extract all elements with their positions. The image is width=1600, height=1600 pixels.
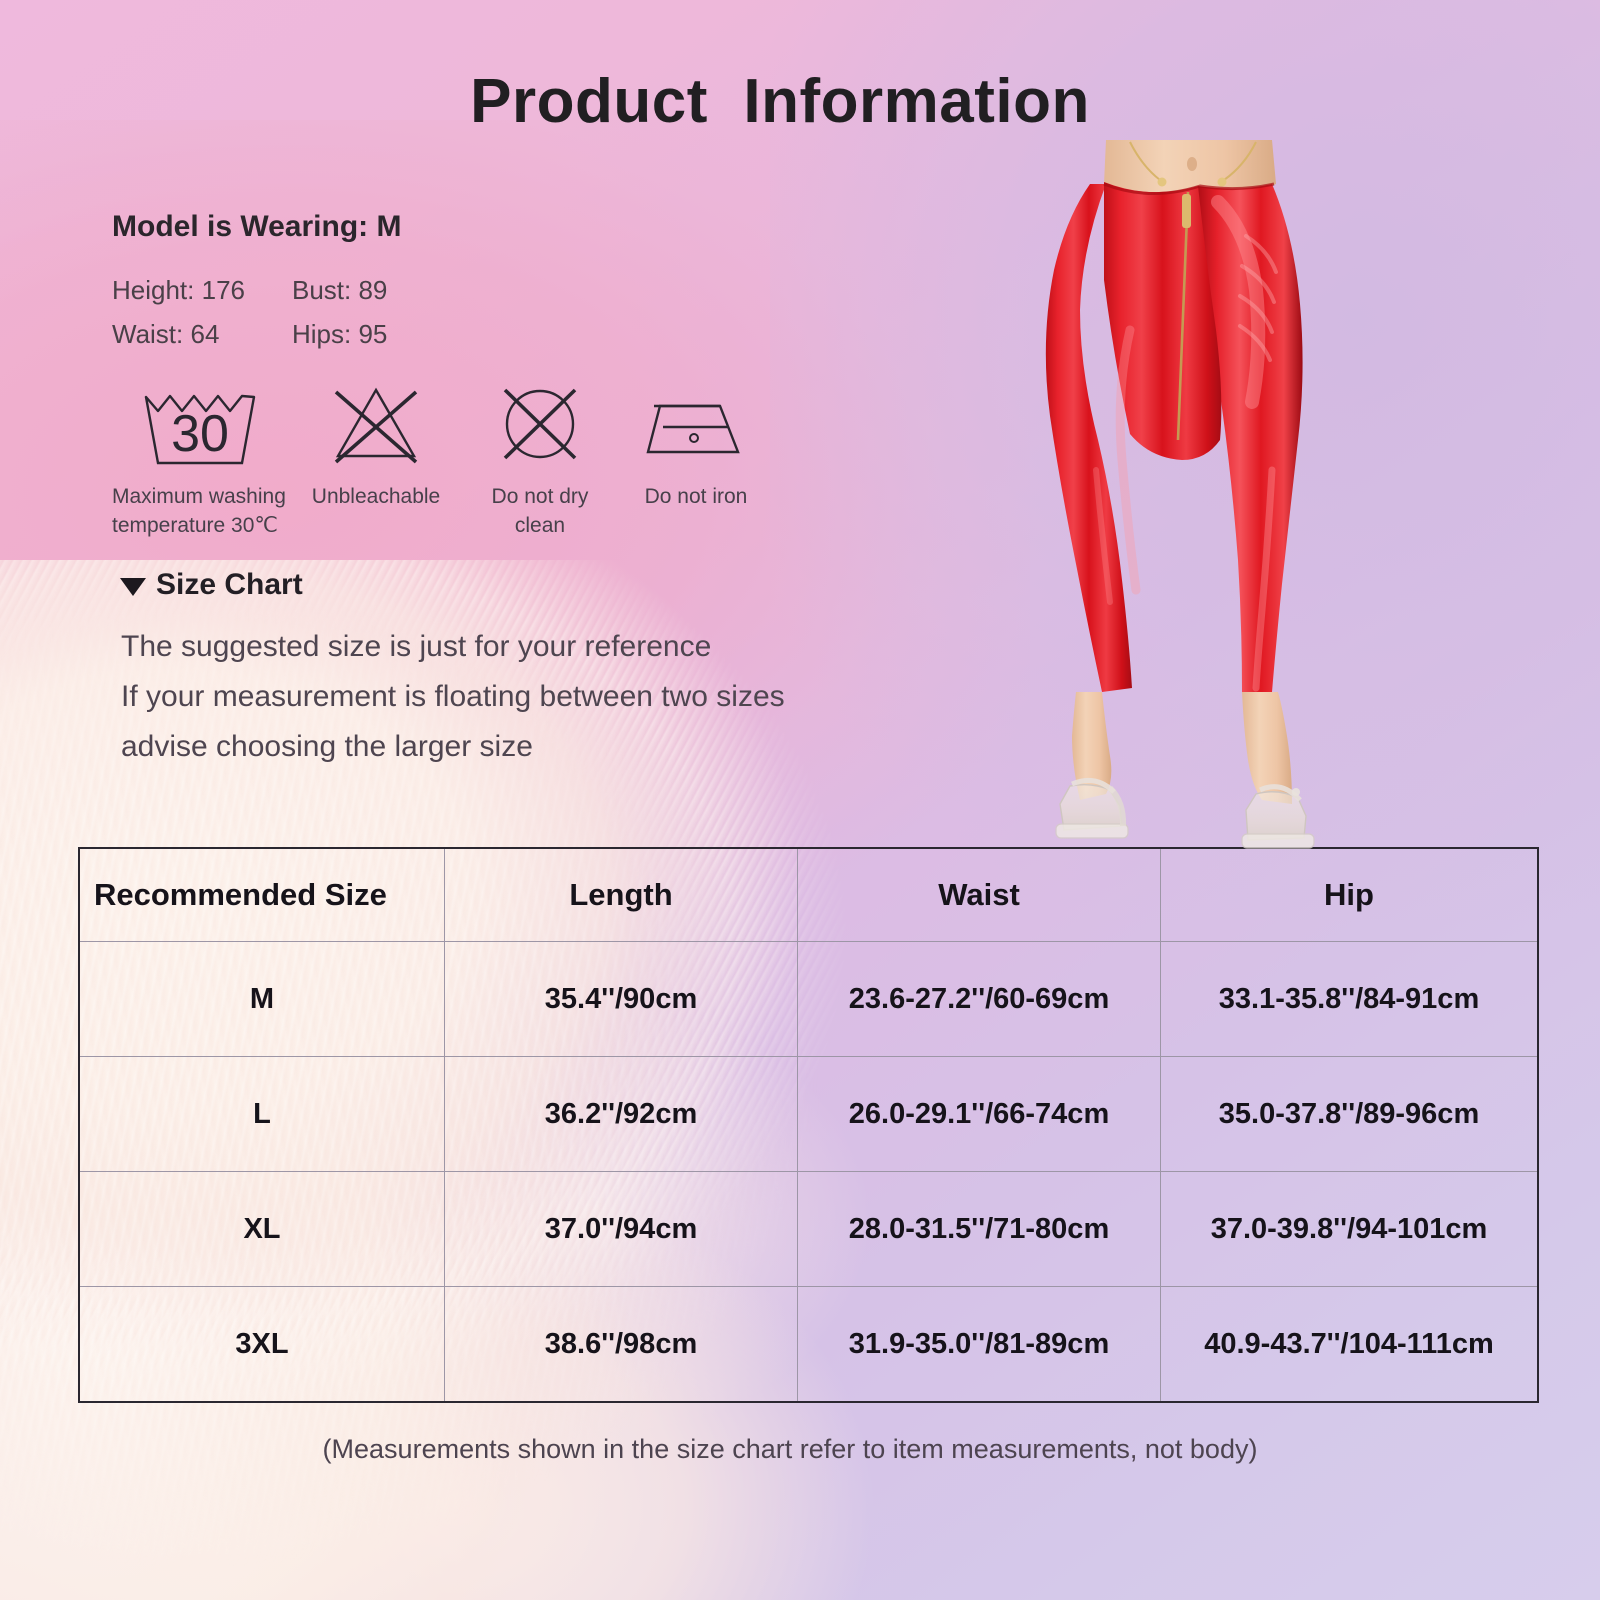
table-row: 3XL 38.6''/98cm 31.9-35.0''/81-89cm 40.9…: [79, 1287, 1538, 1403]
care-item-washing: 30 Maximum washing temperature 30℃: [112, 378, 288, 540]
size-chart-note: advise choosing the larger size: [121, 722, 785, 772]
size-chart-note: If your measurement is floating between …: [121, 672, 785, 722]
left-clear-heel: [1056, 780, 1128, 838]
page-title: Product Information: [0, 66, 1560, 137]
size-chart-heading-label: Size Chart: [156, 568, 303, 602]
cell-waist: 28.0-31.5''/71-80cm: [798, 1172, 1161, 1287]
no-bleach-icon: [324, 378, 428, 470]
cell-size: XL: [79, 1172, 445, 1287]
care-item-iron: Do not iron: [620, 378, 772, 511]
table-header-row: Recommended Size Length Waist Hip: [79, 848, 1538, 942]
model-height: Height: 176: [112, 268, 292, 312]
cell-length: 36.2''/92cm: [445, 1057, 798, 1172]
cell-size: L: [79, 1057, 445, 1172]
size-chart-note: The suggested size is just for your refe…: [121, 622, 785, 672]
right-clear-heel: [1242, 787, 1314, 848]
no-dry-clean-icon: [491, 378, 589, 470]
care-item-dry-clean: Do not dry clean: [464, 378, 616, 540]
model-hips: Hips: 95: [292, 312, 492, 356]
svg-text:30: 30: [171, 405, 229, 463]
column-header-hip: Hip: [1161, 848, 1539, 942]
table-row: M 35.4''/90cm 23.6-27.2''/60-69cm 33.1-3…: [79, 942, 1538, 1057]
cell-hip: 37.0-39.8''/94-101cm: [1161, 1172, 1539, 1287]
model-wearing-heading: Model is Wearing: M: [112, 210, 632, 244]
model-measurement-row: Waist: 64 Hips: 95: [112, 312, 632, 356]
size-chart-notes: The suggested size is just for your refe…: [121, 622, 785, 772]
red-patent-leggings-model-photo: [1010, 140, 1400, 850]
column-header-length: Length: [445, 848, 798, 942]
cell-hip: 40.9-43.7''/104-111cm: [1161, 1287, 1539, 1403]
care-label-iron: Do not iron: [645, 482, 748, 511]
model-measurements: Height: 176 Bust: 89 Waist: 64 Hips: 95: [112, 268, 632, 356]
model-measurement-row: Height: 176 Bust: 89: [112, 268, 632, 312]
cell-size: 3XL: [79, 1287, 445, 1403]
cell-waist: 31.9-35.0''/81-89cm: [798, 1287, 1161, 1403]
cell-waist: 26.0-29.1''/66-74cm: [798, 1057, 1161, 1172]
cell-length: 35.4''/90cm: [445, 942, 798, 1057]
care-label-washing: Maximum washing temperature 30℃: [112, 482, 288, 540]
no-iron-icon: [642, 378, 750, 470]
cell-length: 37.0''/94cm: [445, 1172, 798, 1287]
product-information-page: Product Information Model is Wearing: M …: [0, 0, 1600, 1600]
care-label-bleach: Unbleachable: [312, 482, 440, 511]
column-header-waist: Waist: [798, 848, 1161, 942]
cell-hip: 33.1-35.8''/84-91cm: [1161, 942, 1539, 1057]
size-chart-heading[interactable]: Size Chart: [120, 568, 303, 602]
cell-size: M: [79, 942, 445, 1057]
care-item-bleach: Unbleachable: [296, 378, 456, 511]
care-label-dry-clean: Do not dry clean: [464, 482, 616, 540]
cell-waist: 23.6-27.2''/60-69cm: [798, 942, 1161, 1057]
triangle-down-icon: [120, 578, 146, 596]
size-chart-footnote: (Measurements shown in the size chart re…: [0, 1434, 1580, 1465]
column-header-recommended-size: Recommended Size: [79, 848, 445, 942]
cell-length: 38.6''/98cm: [445, 1287, 798, 1403]
model-waist: Waist: 64: [112, 312, 292, 356]
model-bust: Bust: 89: [292, 268, 492, 312]
table-row: XL 37.0''/94cm 28.0-31.5''/71-80cm 37.0-…: [79, 1172, 1538, 1287]
table-row: L 36.2''/92cm 26.0-29.1''/66-74cm 35.0-3…: [79, 1057, 1538, 1172]
model-info-block: Model is Wearing: M Height: 176 Bust: 89…: [112, 210, 632, 356]
size-chart-table: Recommended Size Length Waist Hip M 35.4…: [78, 847, 1539, 1403]
cell-hip: 35.0-37.8''/89-96cm: [1161, 1057, 1539, 1172]
care-instructions: 30 Maximum washing temperature 30℃ Unble…: [112, 378, 772, 540]
washtub-30-icon: 30: [136, 378, 264, 470]
